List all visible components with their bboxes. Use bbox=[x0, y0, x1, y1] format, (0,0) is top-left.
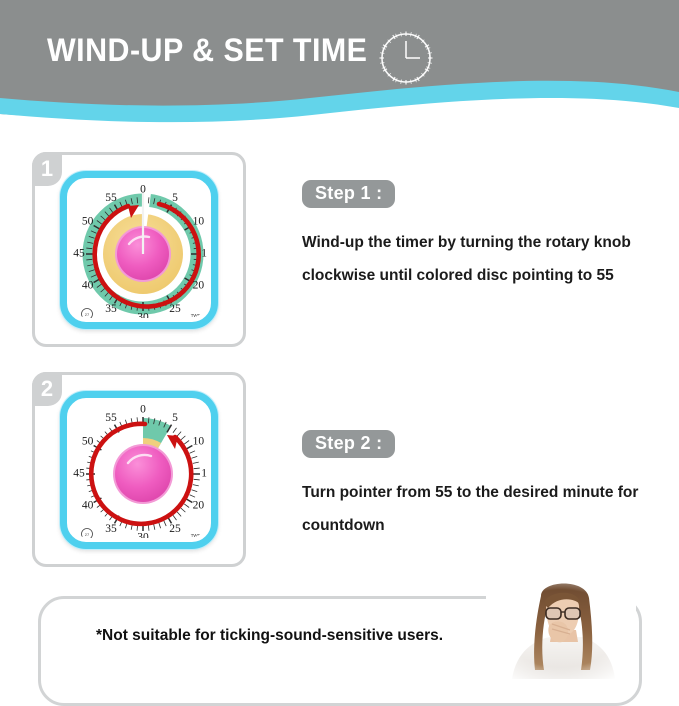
page-header: WIND-UP & SET TIME bbox=[0, 0, 679, 126]
clock-icon bbox=[376, 28, 436, 88]
step-1-text-block: Step 1 : Wind-up the timer by turning th… bbox=[302, 180, 652, 292]
dial-number: 35 bbox=[105, 523, 117, 535]
dial-number: 20 bbox=[193, 279, 205, 291]
dial-number: 25 bbox=[169, 303, 181, 315]
dial-number: 20 bbox=[193, 499, 205, 511]
dial-number: 5 bbox=[172, 192, 178, 204]
step-2-badge: Step 2 : bbox=[302, 430, 395, 458]
dial-number: 55 bbox=[105, 192, 117, 204]
dial-number: 0 bbox=[140, 403, 146, 415]
timer-case: 0510152025303540455055 TWENTY SEVEN 27 bbox=[60, 391, 218, 549]
step-2-text-block: Step 2 : Turn pointer from 55 to the des… bbox=[302, 430, 652, 542]
svg-text:27: 27 bbox=[85, 532, 90, 537]
timer-device-step-2: 0510152025303540455055 TWENTY SEVEN 27 bbox=[60, 391, 218, 549]
step-2-description: Turn pointer from 55 to the desired minu… bbox=[302, 476, 652, 542]
dial-number: 30 bbox=[137, 531, 149, 537]
dial-number: 45 bbox=[73, 467, 85, 479]
step-1-number-badge: 1 bbox=[32, 152, 62, 186]
dial-number: 40 bbox=[82, 499, 94, 511]
timer-case: 0510152025303540455055 TWENTY SEVEN 27 bbox=[60, 171, 218, 329]
dial-number: 30 bbox=[137, 311, 149, 317]
svg-text:27: 27 bbox=[85, 312, 90, 317]
dial-number: 5 bbox=[172, 412, 178, 424]
dial-number: 25 bbox=[169, 523, 181, 535]
step-2-number-badge: 2 bbox=[32, 372, 62, 406]
step-1-image-frame: 1 bbox=[32, 152, 246, 347]
dial-number: 50 bbox=[82, 435, 94, 447]
dial-number: 10 bbox=[193, 215, 205, 227]
footer-note-text: *Not suitable for ticking-sound-sensitiv… bbox=[96, 627, 443, 645]
dial-number: 35 bbox=[105, 303, 117, 315]
timer-device-step-1: 0510152025303540455055 TWENTY SEVEN 27 bbox=[60, 171, 218, 329]
dial-number: 15 bbox=[201, 467, 207, 479]
timer-face: 0510152025303540455055 TWENTY SEVEN 27 bbox=[71, 402, 207, 538]
dial-number: 40 bbox=[82, 279, 94, 291]
timer-dial-1: 0510152025303540455055 TWENTY SEVEN 27 bbox=[71, 182, 207, 318]
step-2-image-frame: 2 bbox=[32, 372, 246, 567]
dial-number: 50 bbox=[82, 215, 94, 227]
dial-number: 45 bbox=[73, 247, 85, 259]
timer-face: 0510152025303540455055 TWENTY SEVEN 27 bbox=[71, 182, 207, 318]
dial-number: 0 bbox=[140, 183, 146, 195]
dial-number: 55 bbox=[105, 412, 117, 424]
step-1-badge: Step 1 : bbox=[302, 180, 395, 208]
step-1-description: Wind-up the timer by turning the rotary … bbox=[302, 226, 652, 292]
dial-number: 15 bbox=[201, 247, 207, 259]
timer-dial-2: 0510152025303540455055 TWENTY SEVEN 27 bbox=[71, 402, 207, 538]
woman-with-glasses-photo bbox=[486, 578, 636, 679]
dial-number: 10 bbox=[193, 435, 205, 447]
page-title: WIND-UP & SET TIME bbox=[47, 32, 367, 69]
